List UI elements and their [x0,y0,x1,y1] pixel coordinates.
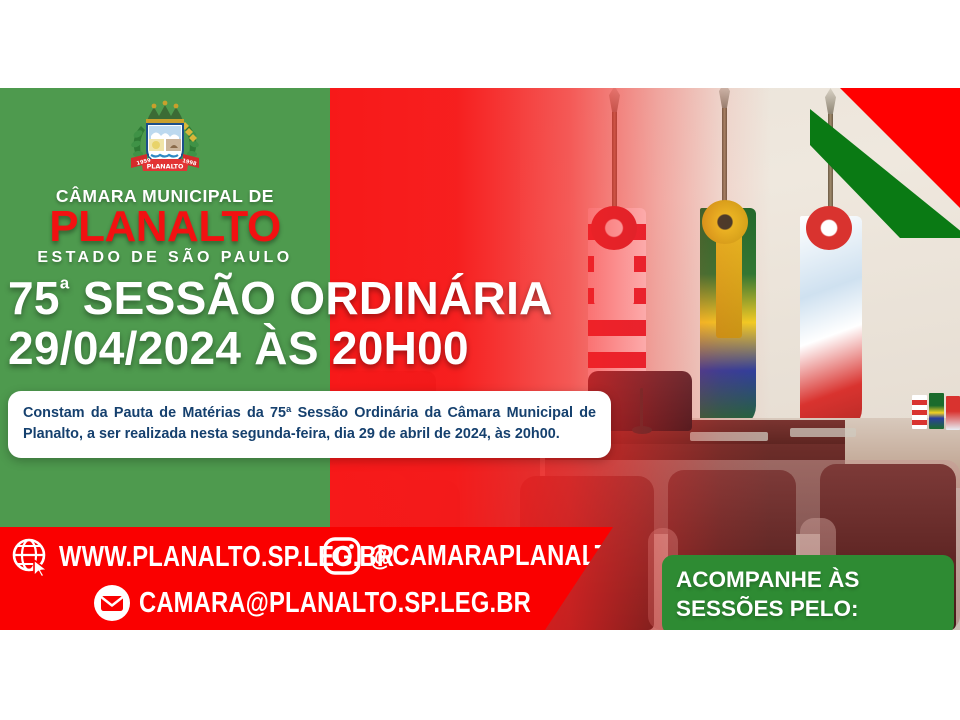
globe-cursor-icon [10,536,52,578]
headline-block: 75ª SESSÃO ORDINÁRIA 29/04/2024 ÀS 20H00 [8,273,728,373]
follow-sessions-box: ACOMPANHE ÀS SESSÕES PELO: [662,555,954,630]
session-number: 75 [8,272,60,324]
brand-line-estado: ESTADO DE SÃO PAULO [0,249,330,267]
envelope-icon [92,583,132,623]
follow-line-1: ACOMPANHE ÀS [676,566,859,595]
coat-of-arms-icon: 1959 1998 PLANALTO [127,100,203,184]
follow-line-2: SESSÕES PELO: [676,595,859,624]
contact-bar: WWW.PLANALTO.SP.LEG.BR @CAMARAPLANALTOSP [0,527,640,630]
session-info-card: Constam da Pauta de Matérias da 75ª Sess… [8,391,611,458]
session-info-text: Constam da Pauta de Matérias da 75ª Sess… [23,403,596,445]
headline-line-1: 75ª SESSÃO ORDINÁRIA [8,273,728,323]
session-announcement-banner: 1959 1998 PLANALTO CÂMARA MUNICIPAL DE P… [0,88,960,630]
svg-text:PLANALTO: PLANALTO [147,163,184,171]
session-title: SESSÃO ORDINÁRIA [70,272,553,324]
email-row[interactable]: CAMARA@PLANALTO.SP.LEG.BR [92,583,617,623]
session-ordinal: ª [60,276,70,304]
poster-canvas: 1959 1998 PLANALTO CÂMARA MUNICIPAL DE P… [0,0,960,720]
brand-line-planalto: PLANALTO [0,206,330,248]
instagram-icon [322,536,362,576]
follow-text: ACOMPANHE ÀS SESSÕES PELO: [676,566,859,624]
headline-line-2: 29/04/2024 ÀS 20H00 [8,323,728,373]
email-address: CAMARA@PLANALTO.SP.LEG.BR [139,587,531,620]
brand-block: 1959 1998 PLANALTO CÂMARA MUNICIPAL DE P… [0,88,330,267]
